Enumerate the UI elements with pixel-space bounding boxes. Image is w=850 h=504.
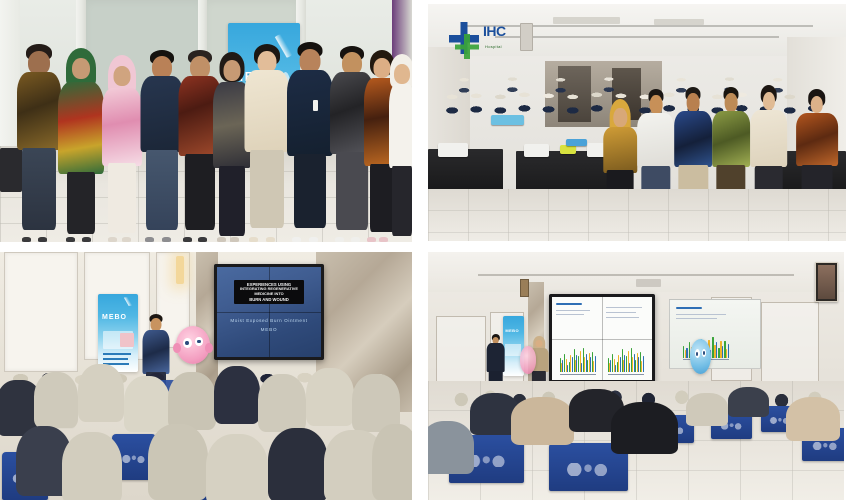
attendee-head: [168, 372, 216, 430]
ihc-logo-text: IHC: [483, 23, 506, 39]
slide-header-bar: [676, 307, 703, 309]
cross-icon-green: [455, 34, 479, 59]
wall-plaque: [520, 279, 529, 296]
ihc-logo: IHC Hospital: [449, 21, 549, 61]
attendee-head: [214, 366, 260, 424]
photo-audience-wide-shot-with-charts[interactable]: MEBO: [428, 252, 844, 500]
slide-title-box: EXPERIENCES USING INTEGRATING REGENERATI…: [234, 280, 305, 304]
attendee-head: [268, 428, 328, 500]
attendee-head: [786, 397, 840, 441]
bar-group: [724, 335, 729, 358]
slide-subtitle-line-1: Moist Exposed Burn Ointment: [225, 318, 312, 323]
attendee-head: [78, 364, 124, 422]
banner-swoosh-icon: [120, 297, 136, 306]
attendee-head: [258, 374, 306, 432]
banner-brand-label: MEBO: [505, 328, 519, 333]
attendee-head: [428, 421, 474, 473]
person: [287, 42, 333, 242]
photo-cell-top-right: IHC Hospital: [418, 0, 850, 245]
slide-title-line-3: BURN AND WOUND: [237, 297, 302, 302]
bar: [716, 342, 717, 358]
ceiling-projector: [636, 279, 661, 286]
ceiling-line: [478, 274, 794, 276]
attendee-head: [611, 402, 678, 454]
attendee-head: [62, 432, 122, 500]
attendee-head: [148, 424, 208, 500]
attendee-head: [511, 397, 573, 445]
medical-device: [560, 145, 577, 154]
slide-title-line-2: INTEGRATING REGENERATIVE MEDICINE INTO: [237, 287, 302, 297]
wall-panel-switch: [520, 23, 533, 51]
slide-subtitle-line-2: MEBO: [225, 327, 312, 332]
photo-cell-bottom-right: MEBO: [418, 245, 850, 504]
floor: [428, 189, 846, 241]
bar-group: [718, 335, 723, 358]
wall-lamp: [176, 256, 184, 284]
ihc-logo-subtitle: Hospital: [485, 44, 502, 49]
medical-device: [524, 144, 549, 157]
person: [244, 44, 290, 242]
framed-portrait: [815, 262, 838, 302]
photo-group-photo-with-mebo-banner[interactable]: MEBO Moist Exposed Burn Ointment: [0, 0, 412, 242]
photo-cell-top-left: MEBO Moist Exposed Burn Ointment: [0, 0, 418, 245]
bar-group: [712, 335, 717, 358]
attendee-head: [686, 393, 728, 426]
slide-subtitle: Moist Exposed Burn Ointment MEBO: [225, 318, 312, 332]
bar: [722, 346, 723, 359]
attendee-head: [372, 424, 412, 500]
photo-collage: MEBO Moist Exposed Burn Ointment: [0, 0, 850, 504]
audience-foreground: [0, 370, 412, 500]
attendee-head: [124, 376, 170, 432]
slide-header-bar: [556, 303, 582, 305]
attendee-head: [206, 434, 268, 500]
photo-large-group-photo-ihc-hall[interactable]: IHC Hospital: [428, 4, 846, 241]
id-badge: [313, 100, 318, 111]
attendee-head: [34, 372, 78, 428]
person: [101, 55, 143, 242]
photo-seminar-speaker-presentation[interactable]: EXPERIENCES USING INTEGRATING REGENERATI…: [0, 252, 412, 500]
photo-cell-bottom-left: EXPERIENCES USING INTEGRATING REGENERATI…: [0, 245, 418, 504]
person: [16, 44, 62, 242]
attendee-head: [728, 387, 770, 418]
person: [58, 48, 104, 242]
screen-bezel-horizontal: [217, 312, 321, 313]
audience-foreground: [428, 391, 844, 500]
bar-group: [683, 335, 688, 358]
bar: [686, 348, 687, 358]
supply-box: [491, 115, 524, 124]
bar: [728, 344, 729, 358]
person: [390, 54, 412, 242]
attendee-head: [306, 368, 354, 426]
bar: [683, 346, 684, 358]
projection-screen: [669, 299, 761, 368]
medical-device: [438, 143, 467, 157]
floor-tiles: [428, 189, 846, 241]
banner-brand-label: MEBO: [102, 314, 127, 321]
supply-box: [566, 139, 587, 146]
